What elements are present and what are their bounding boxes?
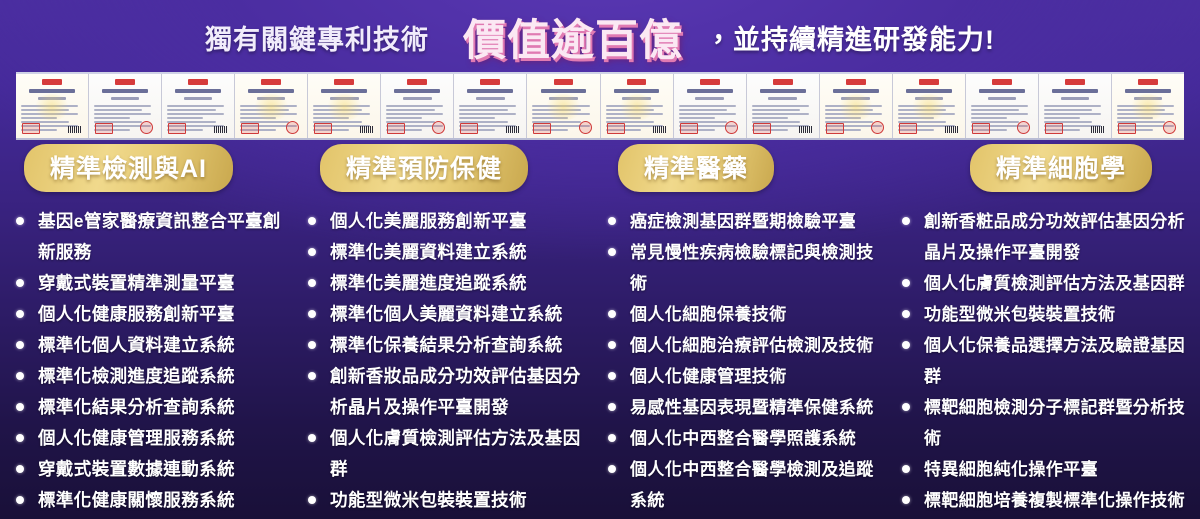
certificate-thumbnail — [381, 74, 454, 138]
bullet-icon — [902, 217, 910, 225]
certificate-thumbnail — [235, 74, 308, 138]
bullet-icon — [608, 310, 616, 318]
list-item-label: 創新香妝品成分功效評估基因分析晶片及操作平臺開發 — [330, 366, 581, 417]
list-item: 個人化美麗服務創新平臺 — [302, 206, 594, 237]
patent-certificate-strip — [16, 72, 1184, 140]
list-item: 癌症檢測基因群暨期檢驗平臺 — [602, 206, 886, 237]
list-item: 標靶細胞檢測分子標記群暨分析技術 — [894, 392, 1190, 454]
list-item: 特異細胞純化操作平臺 — [894, 454, 1190, 485]
column-2-title: 精準預防保健 — [320, 144, 528, 192]
bullet-icon — [608, 434, 616, 442]
list-item-label: 功能型微米包裝裝置技術 — [330, 490, 527, 510]
column-precision-prevention-health: 精準預防保健 個人化美麗服務創新平臺標準化美麗資料建立系統標準化美麗進度追蹤系統… — [298, 144, 598, 519]
list-item-label: 個人化保養品選擇方法及驗證基因群 — [924, 336, 1185, 386]
list-item: 易感性基因表現暨精準保健系統 — [602, 392, 886, 423]
list-item-label: 標靶細胞檢測分子標記群暨分析技術 — [924, 398, 1185, 448]
header-left-text: 獨有關鍵專利技術 — [205, 18, 429, 57]
column-4-list: 創新香粧品成分功效評估基因分析晶片及操作平臺開發個人化膚質檢測評估方法及基因群功… — [894, 206, 1190, 519]
certificate-thumbnail — [601, 74, 674, 138]
bullet-icon — [902, 341, 910, 349]
list-item-label: 特異細胞純化操作平臺 — [924, 460, 1098, 479]
bullet-icon — [902, 279, 910, 287]
list-item-label: 標準化保養結果分析查詢系統 — [330, 335, 563, 355]
bullet-icon — [608, 465, 616, 473]
list-item-label: 標準化結果分析查詢系統 — [38, 397, 235, 417]
bullet-icon — [608, 217, 616, 225]
bullet-icon — [902, 496, 910, 504]
certificate-thumbnail — [16, 74, 89, 138]
bullet-icon — [16, 403, 24, 411]
certificate-thumbnail — [966, 74, 1039, 138]
list-item-label: 個人化細胞治療評估檢測及技術 — [630, 336, 874, 355]
bullet-icon — [16, 434, 24, 442]
column-precision-detection-ai: 精準檢測與AI 基因e管家醫療資訊整合平臺創新服務穿戴式裝置精準測量平臺個人化健… — [6, 144, 298, 519]
column-3-list: 癌症檢測基因群暨期檢驗平臺常見慢性疾病檢驗標記與檢測技術個人化細胞保養技術個人化… — [602, 206, 886, 516]
list-item: 個人化保養品選擇方法及驗證基因群 — [894, 330, 1190, 392]
column-2-list: 個人化美麗服務創新平臺標準化美麗資料建立系統標準化美麗進度追蹤系統標準化個人美麗… — [302, 206, 594, 519]
technology-columns: 精準檢測與AI 基因e管家醫療資訊整合平臺創新服務穿戴式裝置精準測量平臺個人化健… — [0, 144, 1200, 519]
list-item-label: 標靶細胞培養複製標準化操作技術 — [924, 491, 1185, 510]
list-item-label: 常見慢性疾病檢驗標記與檢測技術 — [630, 243, 874, 293]
list-item-label: 個人化中西整合醫學檢測及追蹤系統 — [630, 460, 874, 510]
bullet-icon — [902, 465, 910, 473]
header-highlight-text: 價值逾百億 — [463, 6, 683, 68]
list-item: 個人化健康管理服務系統 — [10, 423, 294, 454]
certificate-thumbnail — [89, 74, 162, 138]
list-item-label: 個人化健康服務創新平臺 — [38, 304, 235, 324]
list-item: 個人化細胞治療評估檢測及技術 — [602, 330, 886, 361]
list-item: 個人化健康服務創新平臺 — [10, 299, 294, 330]
list-item: 個人化細胞保養技術 — [602, 299, 886, 330]
certificate-thumbnail — [1112, 74, 1184, 138]
certificate-thumbnail — [454, 74, 527, 138]
list-item: 標準化美麗資料建立系統 — [302, 237, 594, 268]
list-item: 標準化美麗進度追蹤系統 — [302, 268, 594, 299]
list-item-label: 功能型微米包裝裝置技術 — [924, 305, 1115, 324]
bullet-icon — [308, 496, 316, 504]
list-item: 個人化健康管理技術 — [602, 361, 886, 392]
bullet-icon — [16, 310, 24, 318]
page-header: 獨有關鍵專利技術 價值逾百億 ，並持續精進研發能力! — [0, 0, 1200, 70]
list-item-label: 癌症檢測基因群暨期檢驗平臺 — [630, 212, 856, 231]
list-item: 個人化膚質檢測評估方法及基因群 — [894, 268, 1190, 299]
certificate-thumbnail — [162, 74, 235, 138]
bullet-icon — [308, 310, 316, 318]
list-item-label: 易感性基因表現暨精準保健系統 — [630, 398, 874, 417]
list-item: 標準化個人美麗資料建立系統 — [302, 299, 594, 330]
bullet-icon — [16, 279, 24, 287]
column-4-title-wrap: 精準細胞學 — [894, 144, 1190, 192]
column-precision-medicine: 精準醫藥 癌症檢測基因群暨期檢驗平臺常見慢性疾病檢驗標記與檢測技術個人化細胞保養… — [598, 144, 890, 519]
list-item: 標準化保養結果分析查詢系統 — [302, 330, 594, 361]
list-item-label: 標準化個人美麗資料建立系統 — [330, 304, 563, 324]
list-item: 穿戴式裝置數據連動系統 — [10, 454, 294, 485]
list-item: 創新香妝品成分功效評估基因分析晶片及操作平臺開發 — [302, 361, 594, 423]
certificate-thumbnail — [820, 74, 893, 138]
list-item-label: 標準化美麗資料建立系統 — [330, 242, 527, 262]
list-item-label: 創新香粧品成分功效評估基因分析晶片及操作平臺開發 — [924, 212, 1185, 262]
list-item: 標準化個人資料建立系統 — [10, 330, 294, 361]
list-item-label: 個人化膚質檢測評估方法及基因群 — [330, 428, 581, 479]
bullet-icon — [308, 248, 316, 256]
bullet-icon — [16, 496, 24, 504]
list-item: 創新香粧品成分功效評估基因分析晶片及操作平臺開發 — [894, 206, 1190, 268]
list-item: 功能型微米包裝裝置技術 — [302, 485, 594, 516]
list-item: 個人化中西整合醫學照護系統 — [602, 423, 886, 454]
list-item: 個人化中西整合醫學檢測及追蹤系統 — [602, 454, 886, 516]
list-item: 功能型微米包裝裝置技術 — [894, 299, 1190, 330]
column-4-title: 精準細胞學 — [970, 144, 1152, 192]
bullet-icon — [608, 403, 616, 411]
bullet-icon — [308, 279, 316, 287]
list-item: 標準化健康關懷服務系統 — [10, 485, 294, 516]
column-3-title: 精準醫藥 — [618, 144, 774, 192]
certificate-thumbnail — [1039, 74, 1112, 138]
bullet-icon — [16, 372, 24, 380]
list-item: 個人化膚質檢測評估方法及基因群 — [302, 423, 594, 485]
bullet-icon — [308, 217, 316, 225]
header-right-text: ，並持續精進研發能力! — [705, 18, 995, 57]
bullet-icon — [608, 372, 616, 380]
list-item: 標準化結果分析查詢系統 — [10, 392, 294, 423]
list-item-label: 個人化中西整合醫學照護系統 — [630, 429, 856, 448]
list-item: 標靶細胞培養複製標準化操作技術 — [894, 485, 1190, 516]
list-item-label: 標準化健康關懷服務系統 — [38, 490, 235, 510]
list-item: 穿戴式裝置精準測量平臺 — [10, 268, 294, 299]
column-1-list: 基因e管家醫療資訊整合平臺創新服務穿戴式裝置精準測量平臺個人化健康服務創新平臺標… — [10, 206, 294, 516]
list-item-label: 標準化美麗進度追蹤系統 — [330, 273, 527, 293]
certificate-thumbnail — [747, 74, 820, 138]
list-item-label: 個人化健康管理技術 — [630, 367, 787, 386]
list-item: 基因e管家醫療資訊整合平臺創新服務 — [10, 206, 294, 268]
certificate-thumbnail — [308, 74, 381, 138]
list-item-label: 標準化檢測進度追蹤系統 — [38, 366, 235, 386]
bullet-icon — [308, 341, 316, 349]
list-item-label: 個人化細胞保養技術 — [630, 305, 787, 324]
certificate-thumbnail — [527, 74, 600, 138]
column-3-title-wrap: 精準醫藥 — [602, 144, 886, 192]
list-item-label: 基因e管家醫療資訊整合平臺創新服務 — [38, 211, 281, 262]
bullet-icon — [608, 341, 616, 349]
column-1-title-wrap: 精準檢測與AI — [10, 144, 294, 192]
column-2-title-wrap: 精準預防保健 — [302, 144, 594, 192]
column-1-title: 精準檢測與AI — [24, 144, 233, 192]
list-item: 標準化檢測進度追蹤系統 — [10, 361, 294, 392]
bullet-icon — [308, 434, 316, 442]
list-item-label: 個人化美麗服務創新平臺 — [330, 211, 527, 231]
list-item-label: 穿戴式裝置數據連動系統 — [38, 459, 235, 479]
bullet-icon — [16, 217, 24, 225]
column-precision-cytology: 精準細胞學 創新香粧品成分功效評估基因分析晶片及操作平臺開發個人化膚質檢測評估方… — [890, 144, 1194, 519]
bullet-icon — [16, 341, 24, 349]
bullet-icon — [902, 403, 910, 411]
list-item-label: 穿戴式裝置精準測量平臺 — [38, 273, 235, 293]
bullet-icon — [16, 465, 24, 473]
certificate-thumbnail — [893, 74, 966, 138]
list-item: 常見慢性疾病檢驗標記與檢測技術 — [602, 237, 886, 299]
bullet-icon — [608, 248, 616, 256]
certificate-thumbnail — [674, 74, 747, 138]
bullet-icon — [902, 310, 910, 318]
list-item-label: 標準化個人資料建立系統 — [38, 335, 235, 355]
list-item-label: 個人化膚質檢測評估方法及基因群 — [924, 274, 1185, 293]
list-item-label: 個人化健康管理服務系統 — [38, 428, 235, 448]
bullet-icon — [308, 372, 316, 380]
